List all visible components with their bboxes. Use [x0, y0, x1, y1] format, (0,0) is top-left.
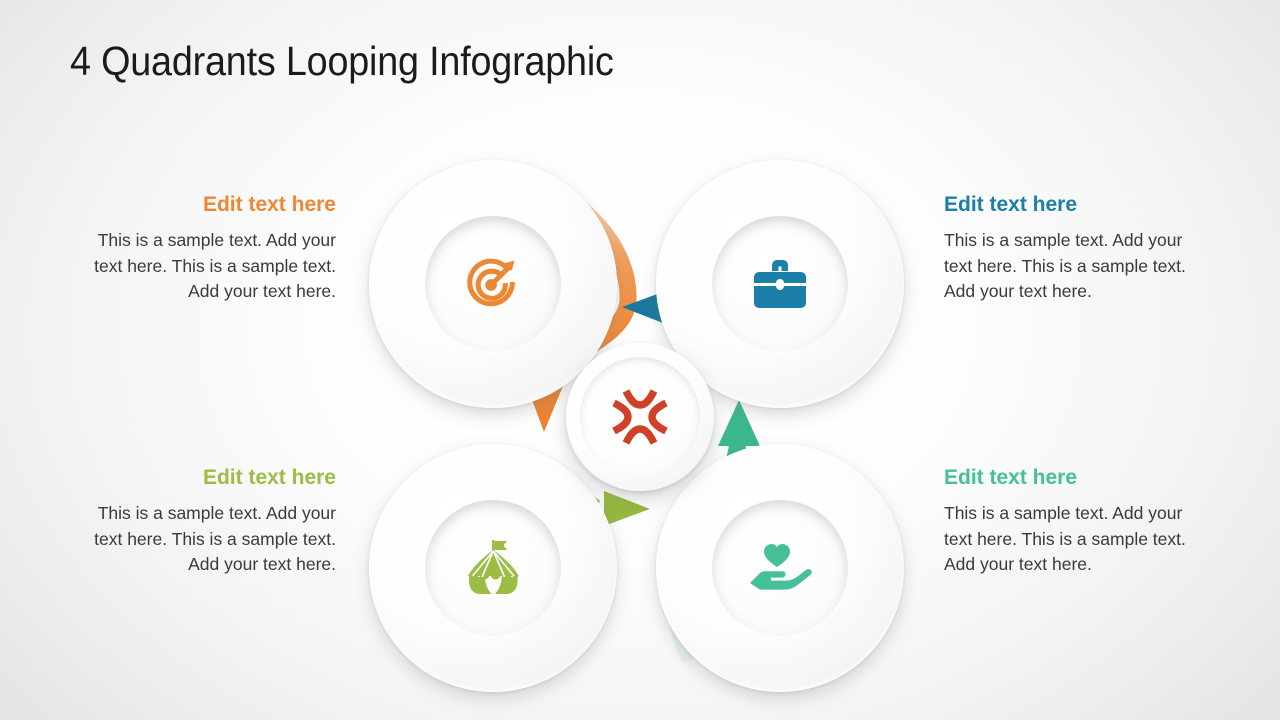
- quadrant-bottom-right[interactable]: [656, 444, 904, 692]
- textblock-body: This is a sample text. Add your text her…: [86, 501, 336, 578]
- quadrant-icon-well: [712, 500, 848, 636]
- target-icon: [462, 253, 524, 315]
- quadrant-icon-well: [425, 500, 561, 636]
- quadrant-icon-well: [712, 216, 848, 352]
- briefcase-icon: [748, 255, 812, 313]
- converge-arrows-icon: [608, 385, 672, 449]
- circus-tent-icon: [460, 538, 526, 598]
- quadrant-icon-well: [425, 216, 561, 352]
- textblock-heading: Edit text here: [86, 465, 336, 491]
- textblock-bottom-left[interactable]: Edit text here This is a sample text. Ad…: [86, 465, 336, 578]
- infographic-slide: 4 Quadrants Looping Infographic: [0, 0, 1280, 720]
- textblock-heading: Edit text here: [944, 465, 1194, 491]
- center-node-inner: [580, 357, 700, 477]
- textblock-body: This is a sample text. Add your text her…: [944, 228, 1194, 305]
- quadrant-top-left[interactable]: [369, 160, 617, 408]
- textblock-bottom-right[interactable]: Edit text here This is a sample text. Ad…: [944, 465, 1194, 578]
- textblock-body: This is a sample text. Add your text her…: [86, 228, 336, 305]
- hand-heart-icon: [746, 539, 814, 597]
- page-title: 4 Quadrants Looping Infographic: [70, 38, 614, 85]
- center-node[interactable]: [566, 343, 714, 491]
- textblock-body: This is a sample text. Add your text her…: [944, 501, 1194, 578]
- textblock-top-left[interactable]: Edit text here This is a sample text. Ad…: [86, 192, 336, 305]
- textblock-top-right[interactable]: Edit text here This is a sample text. Ad…: [944, 192, 1194, 305]
- textblock-heading: Edit text here: [944, 192, 1194, 218]
- quadrant-bottom-left[interactable]: [369, 444, 617, 692]
- textblock-heading: Edit text here: [86, 192, 336, 218]
